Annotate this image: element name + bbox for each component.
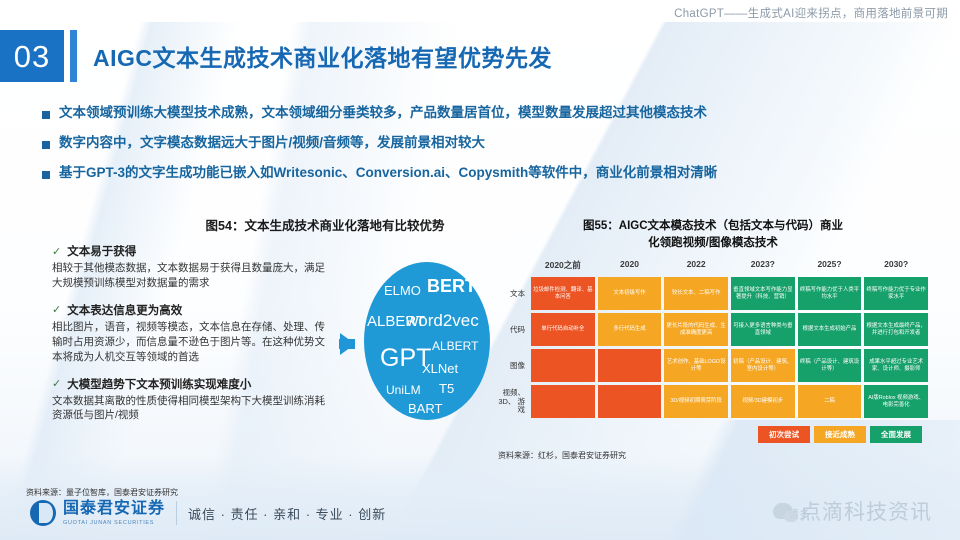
advantage-heading: ✓ 大模型趋势下文本预训练实现难度小 [52, 376, 330, 392]
wordcloud-word: BART [408, 402, 442, 415]
watermark-text: 点滴科技资讯 [800, 496, 932, 526]
company-name-en: GUOTAI JUNAN SECURITIES [63, 520, 165, 526]
figure-54-title: 图54：文本生成技术商业化落地有比较优势 [160, 215, 490, 234]
advantage-description: 文本数据其离散的性质使得相同模型架构下大模型训练消耗资源低与图片/视频 [52, 394, 330, 424]
watermark: 点滴科技资讯 [773, 496, 932, 526]
matrix-column-header: 2022 [664, 259, 728, 274]
matrix-column-header: 2030? [864, 259, 928, 274]
square-bullet-icon [42, 111, 50, 119]
wordcloud-word: BERT [427, 277, 476, 295]
matrix-cell: 较长文本、二稿写作 [664, 277, 728, 310]
list-item: 数字内容中，文字模态数据远大于图片/视频/音频等，发展前景相对较大 [42, 135, 942, 152]
matrix-cell: 根据文本生成最终产品，并进行打包和开发者 [864, 313, 928, 346]
matrix-cell: 根据文本生成初始产品 [798, 313, 862, 346]
advantage-heading-text: 大模型趋势下文本预训练实现难度小 [67, 376, 251, 392]
matrix-column-header: 2020 [598, 259, 662, 274]
matrix-row-header: 文本 [498, 277, 528, 310]
arrow-right-icon [330, 333, 364, 355]
wordcloud-word: XLNet [422, 362, 458, 375]
square-bullet-icon [42, 171, 50, 179]
matrix-cell: 可接入更多语言种类与垂直领域 [731, 313, 795, 346]
figure-54: 图54：文本生成技术商业化落地有比较优势 ✓ 文本易于获得 相较于其他模态数据，… [30, 215, 490, 434]
bullet-text: 数字内容中，文字模态数据远大于图片/视频/音频等，发展前景相对较大 [59, 135, 485, 152]
legend-item-maturing: 接近成熟 [814, 426, 866, 443]
matrix-cell [598, 385, 662, 418]
advantage-heading: ✓ 文本易于获得 [52, 243, 330, 259]
advantage-description: 相较于其他模态数据，文本数据易于获得且数量庞大，满足大规模预训练模型对数据量的需… [52, 261, 330, 291]
check-icon: ✓ [52, 245, 61, 258]
legend-item-initial: 初次尝试 [758, 426, 810, 443]
wordcloud-word: ALBERT [432, 340, 478, 352]
matrix-cell: 文本初级写作 [598, 277, 662, 310]
matrix-cell: 3D/视频初期萌芽阶段 [664, 385, 728, 418]
company-logo-icon [30, 500, 56, 526]
matrix-cell: 二稿 [798, 385, 862, 418]
deck-kicker: ChatGPT——生成式AI迎来拐点，商用落地前景可期 [674, 5, 948, 21]
matrix-row-header: 图像 [498, 349, 528, 382]
square-bullet-icon [42, 141, 50, 149]
list-item: 基于GPT-3的文字生成功能已嵌入如Writesonic、Conversion.… [42, 165, 942, 182]
advantage-heading: ✓ 文本表达信息更为高效 [52, 302, 330, 318]
company-slogan: 诚信 · 责任 · 亲和 · 专业 · 创新 [188, 504, 386, 523]
matrix-cell: 更长片段的代码生成、生成准确度更高 [664, 313, 728, 346]
figure-55-title-line-1: 图55：AIGC文本模态技术（包括文本与代码）商业 [498, 218, 928, 235]
matrix-cell: 成果水平超过专业艺术家、设计师、摄影师 [864, 349, 928, 382]
title-rule [70, 30, 77, 82]
matrix-cell: AI版Roblox 视频游戏、电影完善化 [864, 385, 928, 418]
check-icon: ✓ [52, 377, 61, 390]
legend-item-mature: 全面发展 [870, 426, 922, 443]
matrix-cell: 垃圾邮件检测、翻译、基本问答 [531, 277, 595, 310]
figure-55-title-line-2: 化领跑视频/图像模态技术 [498, 235, 928, 252]
figure-55-source: 资料来源：红杉，国泰君安证券研究 [498, 450, 928, 461]
advantage-list: ✓ 文本易于获得 相较于其他模态数据，文本数据易于获得且数量庞大，满足大规模预训… [30, 243, 330, 434]
matrix-cell: 初稿（产品设计、建筑、室内设计等） [731, 349, 795, 382]
matrix-cell: 垂直领域文本写作能力显著提升（科技、营销） [731, 277, 795, 310]
check-icon: ✓ [52, 303, 61, 316]
section-number: 03 [0, 30, 64, 82]
model-wordcloud: ELMO BERT ALBERT word2vec ALBERT GPT XLN… [364, 262, 490, 420]
matrix-column-header: 2025? [798, 259, 862, 274]
matrix-row-header: 代码 [498, 313, 528, 346]
wechat-icon [773, 503, 793, 519]
matrix-row-header: 视频、 3D、 游戏 [498, 385, 528, 418]
company-footer: 国泰君安证券 GUOTAI JUNAN SECURITIES 诚信 · 责任 ·… [30, 500, 386, 526]
list-item: 文本领域预训练大模型技术成熟，文本领域细分垂类较多，产品数量居首位，模型数量发展… [42, 105, 942, 122]
matrix-cell [598, 349, 662, 382]
matrix-cell: 终稿写作能力优于专业作家水平 [864, 277, 928, 310]
matrix-cell [531, 385, 595, 418]
figure-55-title: 图55：AIGC文本模态技术（包括文本与代码）商业 化领跑视频/图像模态技术 [498, 218, 928, 251]
matrix-cell: 终稿（产品设计、建筑设计等） [798, 349, 862, 382]
list-item: ✓ 大模型趋势下文本预训练实现难度小 文本数据其离散的性质使得相同模型架构下大模… [52, 376, 330, 424]
matrix-corner-spacer [498, 259, 528, 274]
advantage-heading-text: 文本表达信息更为高效 [67, 302, 182, 318]
matrix-cell: 艺术创作、基础LOGO设计等 [664, 349, 728, 382]
wordcloud-word: word2vec [406, 312, 479, 329]
figure-54-body: ✓ 文本易于获得 相较于其他模态数据，文本数据易于获得且数量庞大，满足大规模预训… [30, 243, 490, 434]
bullet-text: 文本领域预训练大模型技术成熟，文本领域细分垂类较多，产品数量居首位，模型数量发展… [59, 105, 707, 122]
wordcloud-word: UniLM [386, 384, 421, 396]
figure-54-source: 资料来源：量子位智库，国泰君安证券研究 [26, 487, 178, 498]
maturity-matrix: 2020之前 2020 2022 2023? 2025? 2030? 文本 垃圾… [498, 259, 928, 418]
wordcloud-word: T5 [439, 382, 454, 395]
matrix-legend: 初次尝试 接近成熟 全面发展 [498, 426, 928, 443]
list-item: ✓ 文本表达信息更为高效 相比图片，语音，视频等模态，文本信息在存储、处理、传输… [52, 302, 330, 365]
matrix-cell [531, 349, 595, 382]
wordcloud-word: ALBERT [367, 314, 401, 329]
matrix-cell: 单行代码自动补全 [531, 313, 595, 346]
figure-55: 图55：AIGC文本模态技术（包括文本与代码）商业 化领跑视频/图像模态技术 2… [498, 218, 928, 461]
list-item: ✓ 文本易于获得 相较于其他模态数据，文本数据易于获得且数量庞大，满足大规模预训… [52, 243, 330, 291]
bullet-list: 文本领域预训练大模型技术成熟，文本领域细分垂类较多，产品数量居首位，模型数量发展… [42, 105, 942, 195]
advantage-heading-text: 文本易于获得 [67, 243, 136, 259]
bullet-text: 基于GPT-3的文字生成功能已嵌入如Writesonic、Conversion.… [59, 165, 717, 182]
company-logo-text: 国泰君安证券 GUOTAI JUNAN SECURITIES [63, 500, 165, 526]
matrix-column-header: 2020之前 [531, 259, 595, 274]
matrix-cell: 视频/3D建模初步 [731, 385, 795, 418]
slide-canvas: ChatGPT——生成式AI迎来拐点，商用落地前景可期 03 AIGC文本生成技… [0, 0, 960, 540]
wordcloud-word: ELMO [384, 284, 421, 297]
advantage-description: 相比图片，语音，视频等模态，文本信息在存储、处理、传输时占用资源少，而信息量不逊… [52, 320, 330, 365]
company-name-cn: 国泰君安证券 [63, 500, 165, 517]
matrix-cell: 多行代码生成 [598, 313, 662, 346]
matrix-column-header: 2023? [731, 259, 795, 274]
matrix-cell: 终稿写作能力优于人类平均水平 [798, 277, 862, 310]
footer-divider [176, 501, 177, 525]
page-title: AIGC文本生成技术商业化落地有望优势先发 [77, 30, 552, 82]
slide-header: 03 AIGC文本生成技术商业化落地有望优势先发 [0, 30, 552, 82]
